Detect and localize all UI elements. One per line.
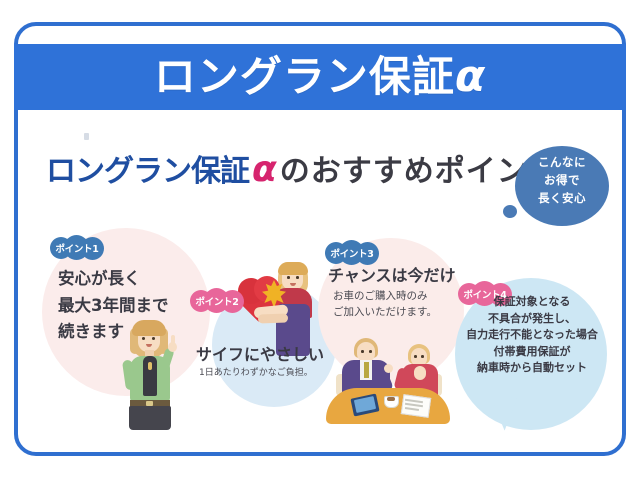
- header-title-alpha: α: [455, 51, 486, 102]
- image-artifact: [84, 133, 89, 140]
- highlight-line-3: 長く安心: [515, 190, 609, 208]
- point-2-subtext: 1日あたりわずかなご負担。: [199, 368, 313, 380]
- point-1-heading: 安心が長く最大3年間まで続きます: [58, 266, 168, 346]
- consultation-desk-illustration: [326, 338, 450, 422]
- point-2-badge: ポイント2: [190, 288, 244, 314]
- point-1-badge: ポイント1: [50, 235, 104, 261]
- point-3-heading: チャンスは今だけ: [328, 266, 456, 285]
- highlight-line-2: お得で: [515, 172, 609, 190]
- point-4-badge: ポイント4: [458, 281, 512, 307]
- woman-heart-leaf-illustration: [238, 262, 316, 358]
- highlight-line-1: こんなに: [515, 154, 609, 172]
- promo-banner: ロングラン保証α ロングラン保証αのおすすめポイント こんなに お得で 長く安心: [0, 0, 640, 480]
- point-2-heading: サイフにやさしい: [196, 345, 324, 364]
- point-3-badge: ポイント3: [325, 240, 379, 266]
- point-3-badge-label: ポイント3: [325, 240, 379, 266]
- point-1-badge-label: ポイント1: [50, 235, 104, 261]
- header-title-main: ロングラン保証: [154, 52, 455, 101]
- subtitle-alpha: α: [249, 149, 280, 190]
- point-3-subtext: お車のご購入時のみご加入いただけます。: [333, 289, 437, 321]
- subtitle-brand: ロングラン保証: [46, 154, 249, 189]
- point-2-badge-label: ポイント2: [190, 288, 244, 314]
- header-band: ロングラン保証α: [14, 44, 626, 110]
- point-4-badge-label: ポイント4: [458, 281, 512, 307]
- point-4-bubble-tail: [485, 394, 517, 432]
- page-title: ロングラン保証α: [154, 55, 486, 99]
- highlight-bubble-text: こんなに お得で 長く安心: [515, 154, 609, 207]
- subtitle: ロングラン保証αのおすすめポイント: [46, 152, 559, 188]
